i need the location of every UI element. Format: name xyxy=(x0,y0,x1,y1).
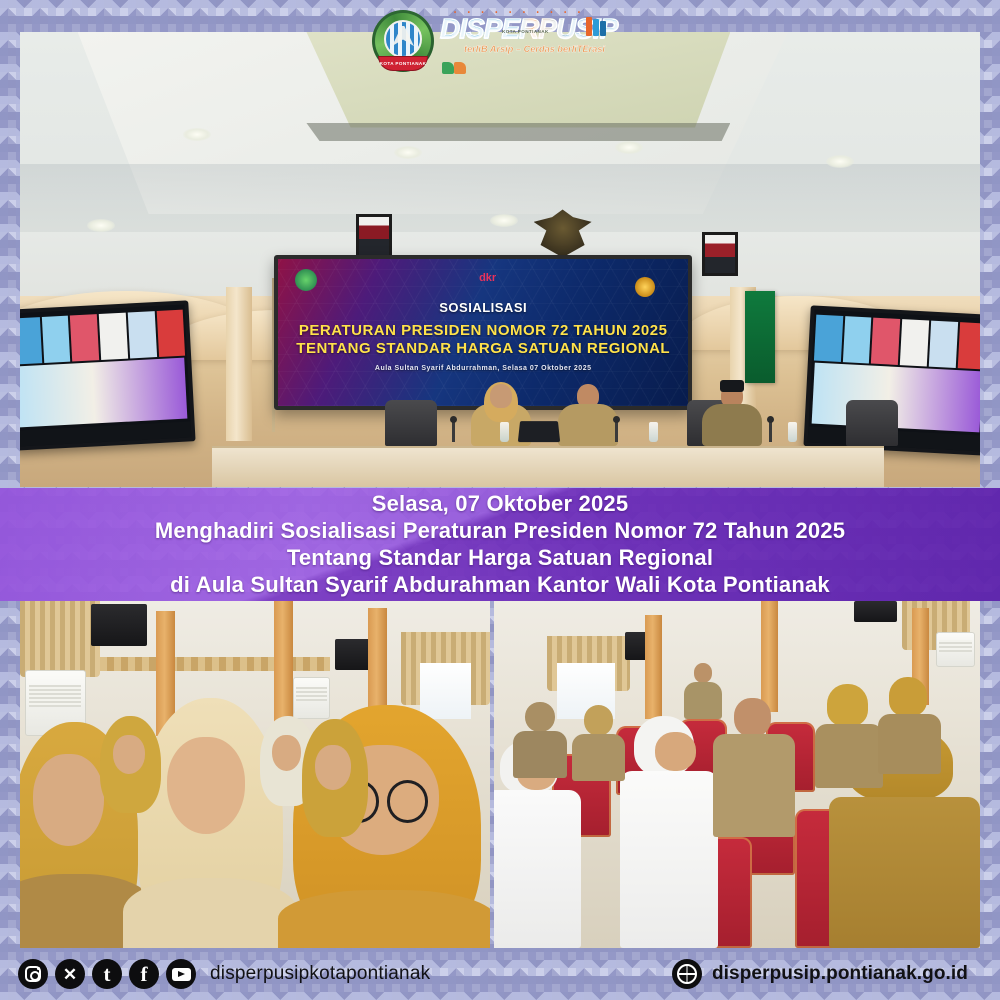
screen-line-1: PERATURAN PRESIDEN NOMOR 72 TAHUN 2025 xyxy=(278,322,688,339)
social-handle-text: disperpusipkotapontianak xyxy=(210,963,430,985)
speaker-chair xyxy=(846,400,898,446)
portrait-frame-left xyxy=(356,214,392,258)
disperpusip-wordmark: • • • • • • • • • • DISPERPUSIP KOTA PON… xyxy=(440,9,632,73)
caption-banner: Selasa, 07 Oktober 2025 Menghadiri Sosia… xyxy=(0,488,1000,601)
header-branding: KOTA PONTIANAK • • • • • • • • • • DISPE… xyxy=(372,4,632,78)
tv-left-zoom-call xyxy=(20,300,196,450)
wordmark-tagline: terliB Arsip – Cerdas berliTErasi xyxy=(464,44,605,54)
air-conditioner xyxy=(936,632,975,667)
caption-line-2: Menghadiri Sosialisasi Peraturan Preside… xyxy=(155,518,845,544)
water-bottle xyxy=(500,422,509,442)
ceiling-reveal xyxy=(289,123,731,141)
emblem-caption: KOTA PONTIANAK xyxy=(379,57,427,70)
room-pillar xyxy=(761,601,778,712)
bottom-left-photo xyxy=(20,601,490,948)
social-links-group: ✕ t f disperpusipkotapontianak xyxy=(18,959,430,989)
youtube-glyph xyxy=(172,968,191,981)
poster-canvas: dkr SOSIALISASI PERATURAN PRESIDEN NOMOR… xyxy=(0,0,1000,1000)
zoom-participant-tiles xyxy=(20,310,188,364)
screen-brand: dkr xyxy=(479,272,496,284)
cornice-molding xyxy=(86,657,330,671)
screen-logo-left xyxy=(295,269,317,291)
tumblr-icon[interactable]: t xyxy=(92,959,122,989)
caption-line-1: Selasa, 07 Oktober 2025 xyxy=(372,491,629,517)
wood-column xyxy=(226,287,252,442)
hall-scene: dkr SOSIALISASI PERATURAN PRESIDEN NOMOR… xyxy=(20,32,980,487)
wall-speaker xyxy=(91,604,147,646)
window-curtain xyxy=(20,601,100,677)
water-bottle xyxy=(649,422,658,442)
attendee-khaki-uniform-man xyxy=(713,698,796,837)
books-icon xyxy=(586,17,606,37)
audience-room-left xyxy=(20,601,490,948)
x-twitter-icon[interactable]: ✕ xyxy=(55,959,85,989)
speaker-man-center xyxy=(558,384,618,446)
audience-room-right xyxy=(494,601,980,948)
screen-line-2: TENTANG STANDAR HARGA SATUAN REGIONAL xyxy=(278,340,688,357)
portrait-frame-right xyxy=(702,232,738,276)
zoom-active-speaker xyxy=(20,358,188,428)
wordmark-micro-text: KOTA PONTIANAK xyxy=(502,29,549,34)
caption-line-3: Tentang Standar Harga Satuan Regional xyxy=(287,545,713,571)
attendee-gold-hijab-row xyxy=(878,677,941,774)
footer-bar: ✕ t f disperpusipkotapontianak disperpus… xyxy=(0,948,1000,1000)
website-url-text[interactable]: disperpusip.pontianak.go.id xyxy=(712,963,968,985)
laptop xyxy=(518,421,560,442)
eyeglasses-icon xyxy=(387,780,428,822)
water-bottle xyxy=(788,422,797,442)
attendee-standing-back xyxy=(684,663,723,719)
instagram-icon[interactable] xyxy=(18,959,48,989)
attendee-white-uniform xyxy=(620,716,717,948)
downlight xyxy=(826,155,854,168)
attendee-background xyxy=(302,719,368,837)
youtube-icon[interactable] xyxy=(166,959,196,989)
room-pillar xyxy=(645,615,662,719)
downlight xyxy=(394,146,422,159)
main-photo: dkr SOSIALISASI PERATURAN PRESIDEN NOMOR… xyxy=(20,32,980,487)
attendee-gold-hijab-row xyxy=(815,684,883,788)
screen-title: SOSIALISASI xyxy=(278,300,688,315)
screen-logo-right xyxy=(635,277,655,297)
table-microphone xyxy=(452,420,455,442)
bottom-right-photo xyxy=(494,601,980,948)
globe-icon[interactable] xyxy=(672,959,702,989)
caption-line-4: di Aula Sultan Syarif Abdurahman Kantor … xyxy=(170,572,830,598)
screen-subtitle: Aula Sultan Syarif Abdurrahman, Selasa 0… xyxy=(278,365,688,372)
facebook-icon[interactable]: f xyxy=(129,959,159,989)
pontianak-city-emblem-icon: KOTA PONTIANAK xyxy=(372,10,434,72)
instagram-glyph xyxy=(25,966,41,982)
open-book-icon xyxy=(442,62,468,75)
emblem-banner: KOTA PONTIANAK xyxy=(378,56,428,71)
speaker-man-peci xyxy=(702,384,762,446)
website-group: disperpusip.pontianak.go.id xyxy=(672,959,968,989)
attendee-back-row xyxy=(572,705,625,781)
table-microphone xyxy=(769,420,772,442)
speaker-chair xyxy=(385,400,437,446)
downlight xyxy=(183,128,211,141)
head-table xyxy=(212,446,884,487)
table-microphone xyxy=(615,420,618,442)
attendee-back-row xyxy=(513,702,566,778)
zoom-participant-tiles xyxy=(812,314,980,368)
institution-flag xyxy=(745,291,775,383)
wall-speaker xyxy=(854,601,898,622)
downlight xyxy=(87,219,115,232)
attendee-background xyxy=(100,716,161,813)
